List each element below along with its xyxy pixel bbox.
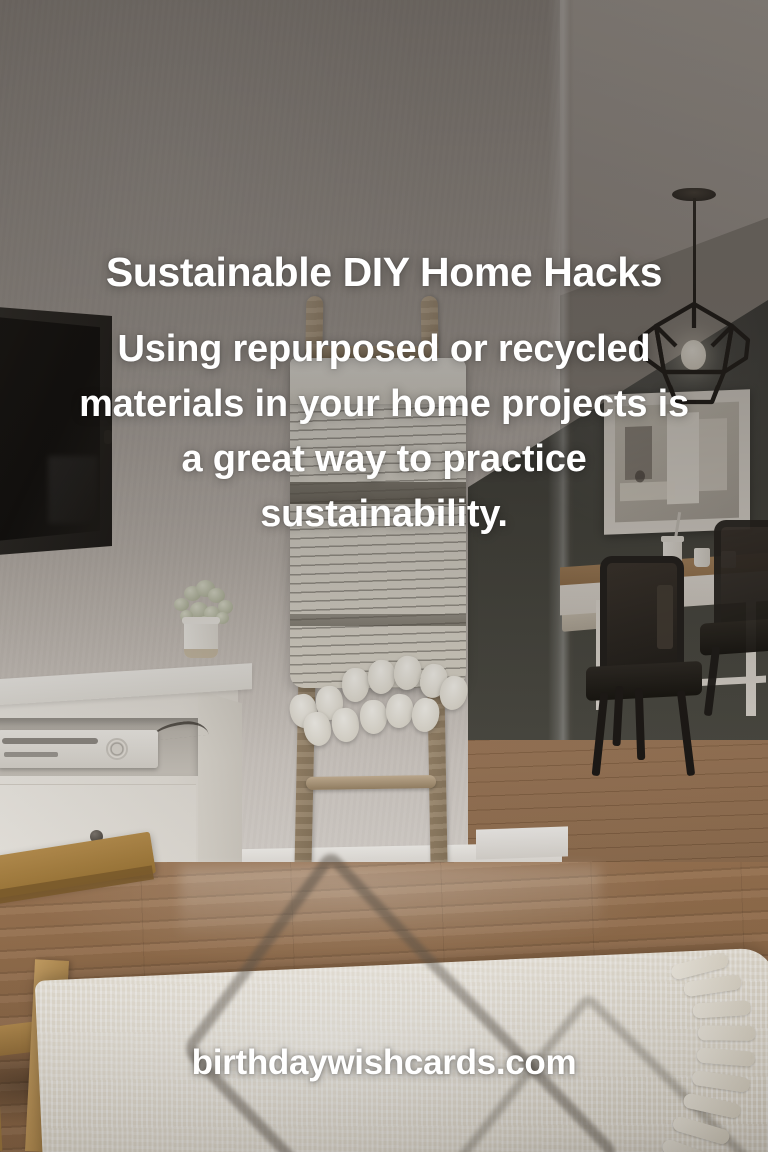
site-watermark: birthdaywishcards.com — [0, 1043, 768, 1083]
text-overlay: Sustainable DIY Home Hacks Using repurpo… — [0, 0, 768, 1152]
page-title: Sustainable DIY Home Hacks — [0, 251, 768, 294]
body-copy: Using repurposed or recycled materials i… — [64, 322, 704, 542]
pinterest-pin-card: Sustainable DIY Home Hacks Using repurpo… — [0, 0, 768, 1152]
